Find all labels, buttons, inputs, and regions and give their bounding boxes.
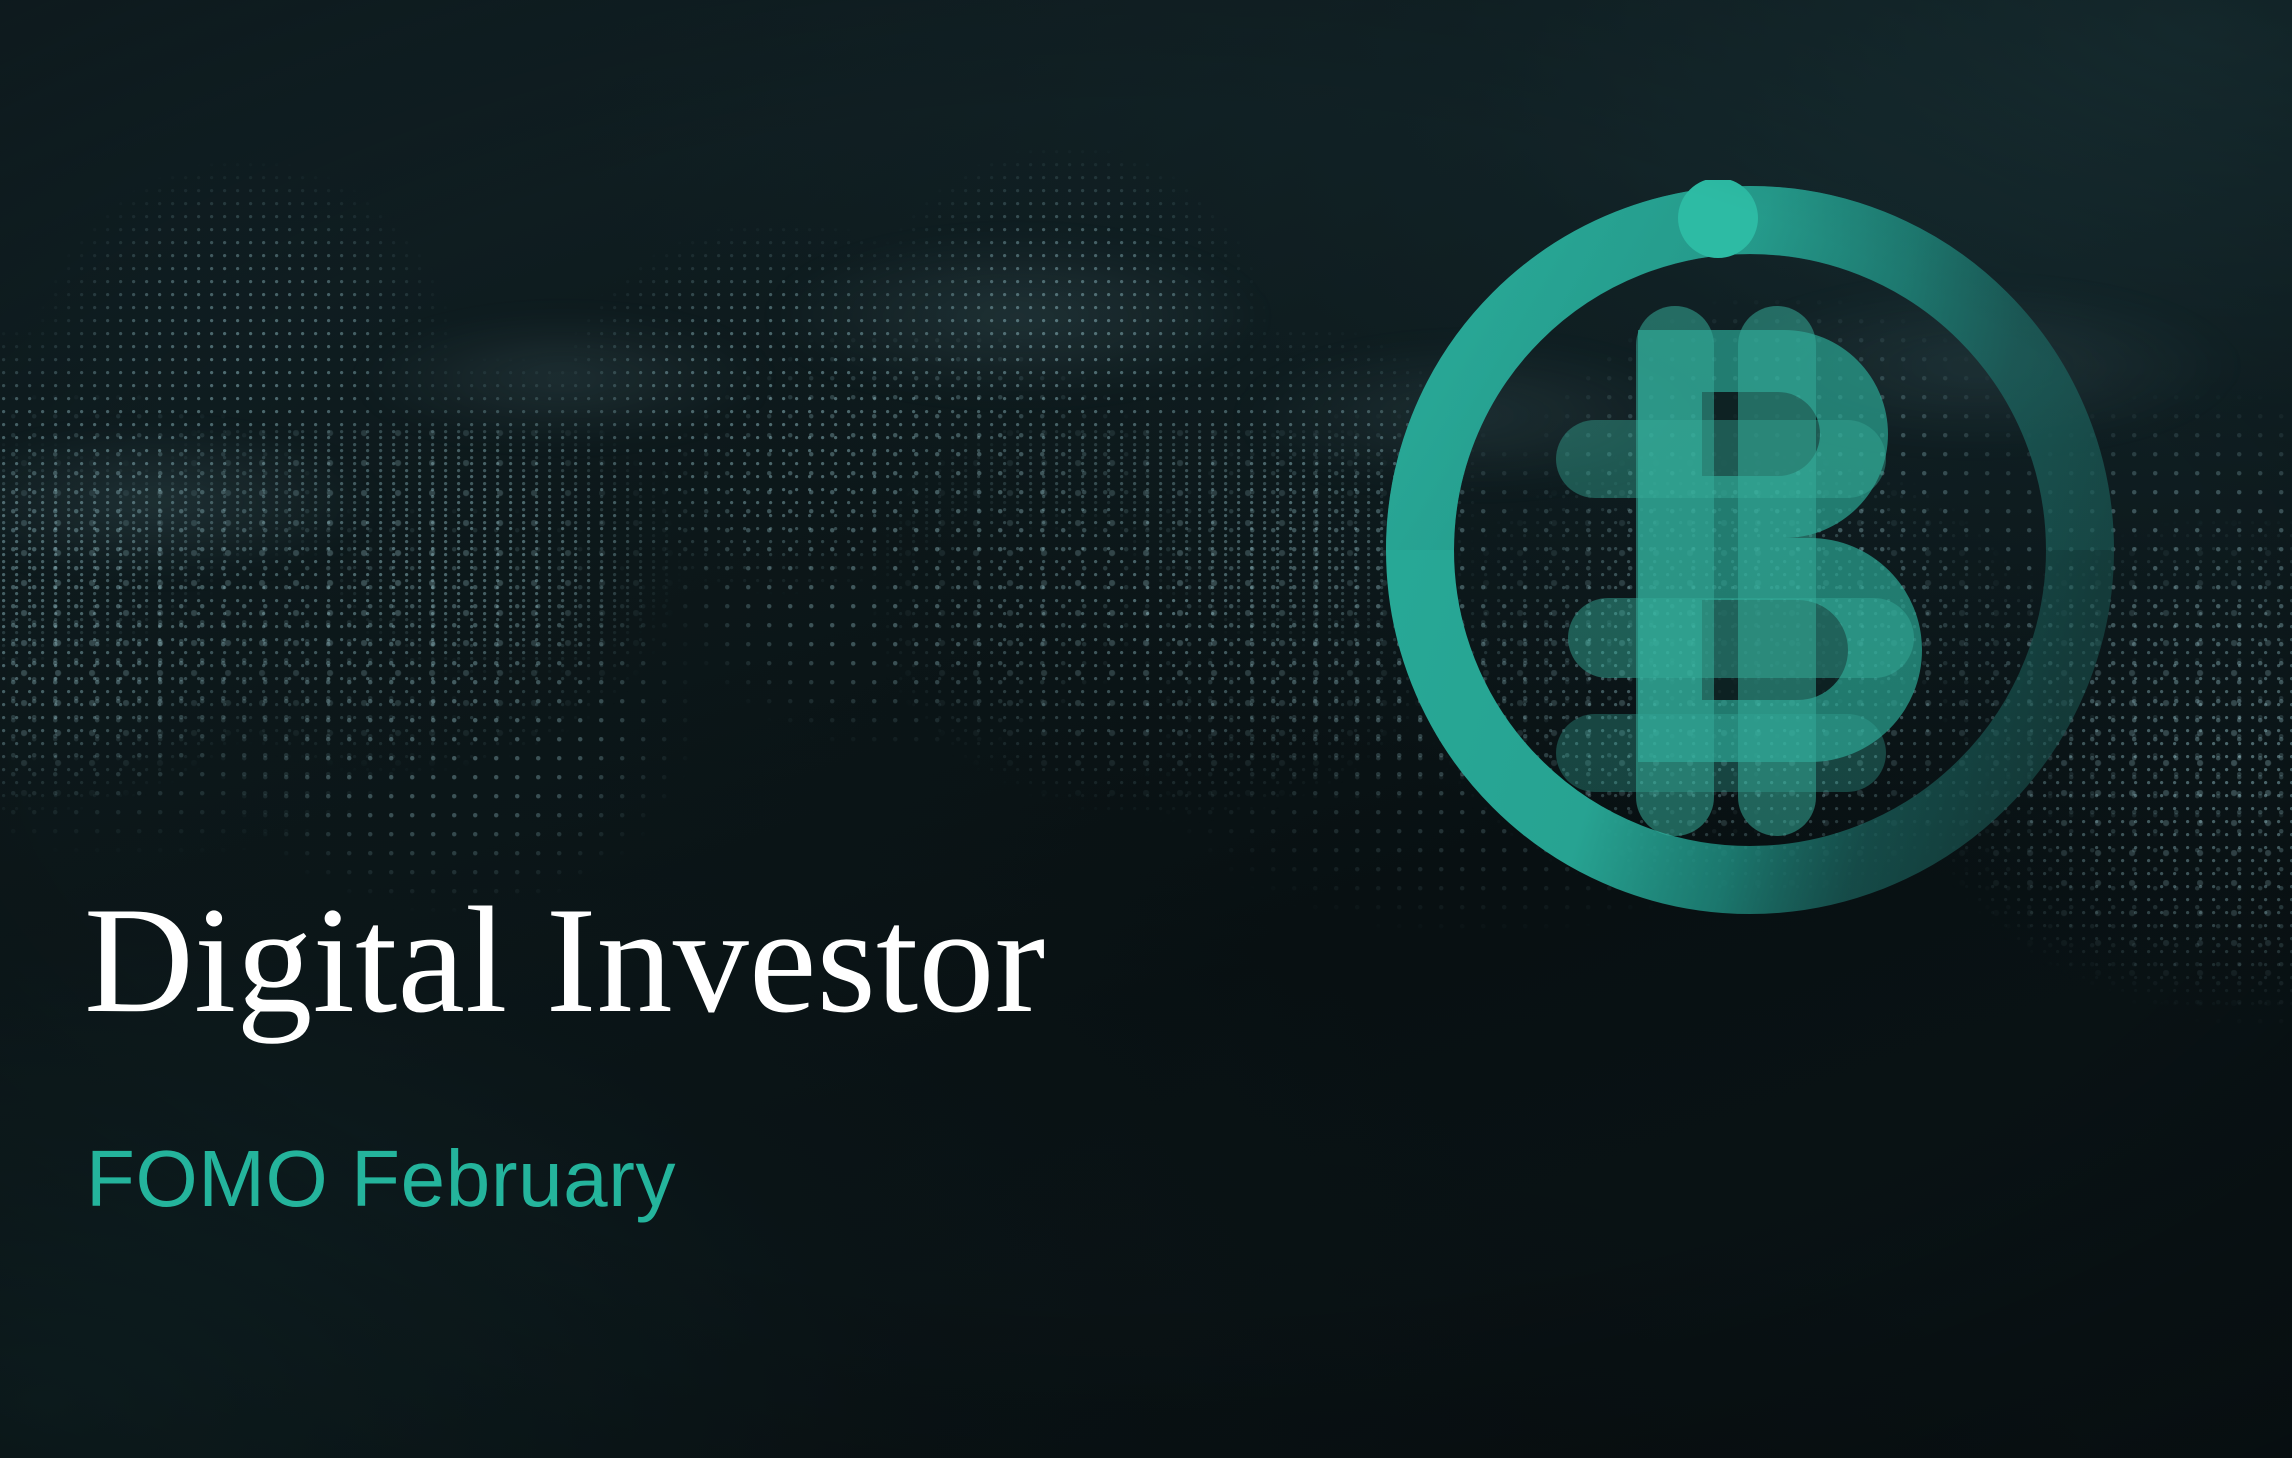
cover-canvas: Digital Investor FOMO February (0, 0, 2292, 1458)
page-title: Digital Investor (84, 880, 1045, 1041)
background-vignette (0, 0, 2292, 1458)
page-subtitle: FOMO February (86, 1135, 676, 1223)
